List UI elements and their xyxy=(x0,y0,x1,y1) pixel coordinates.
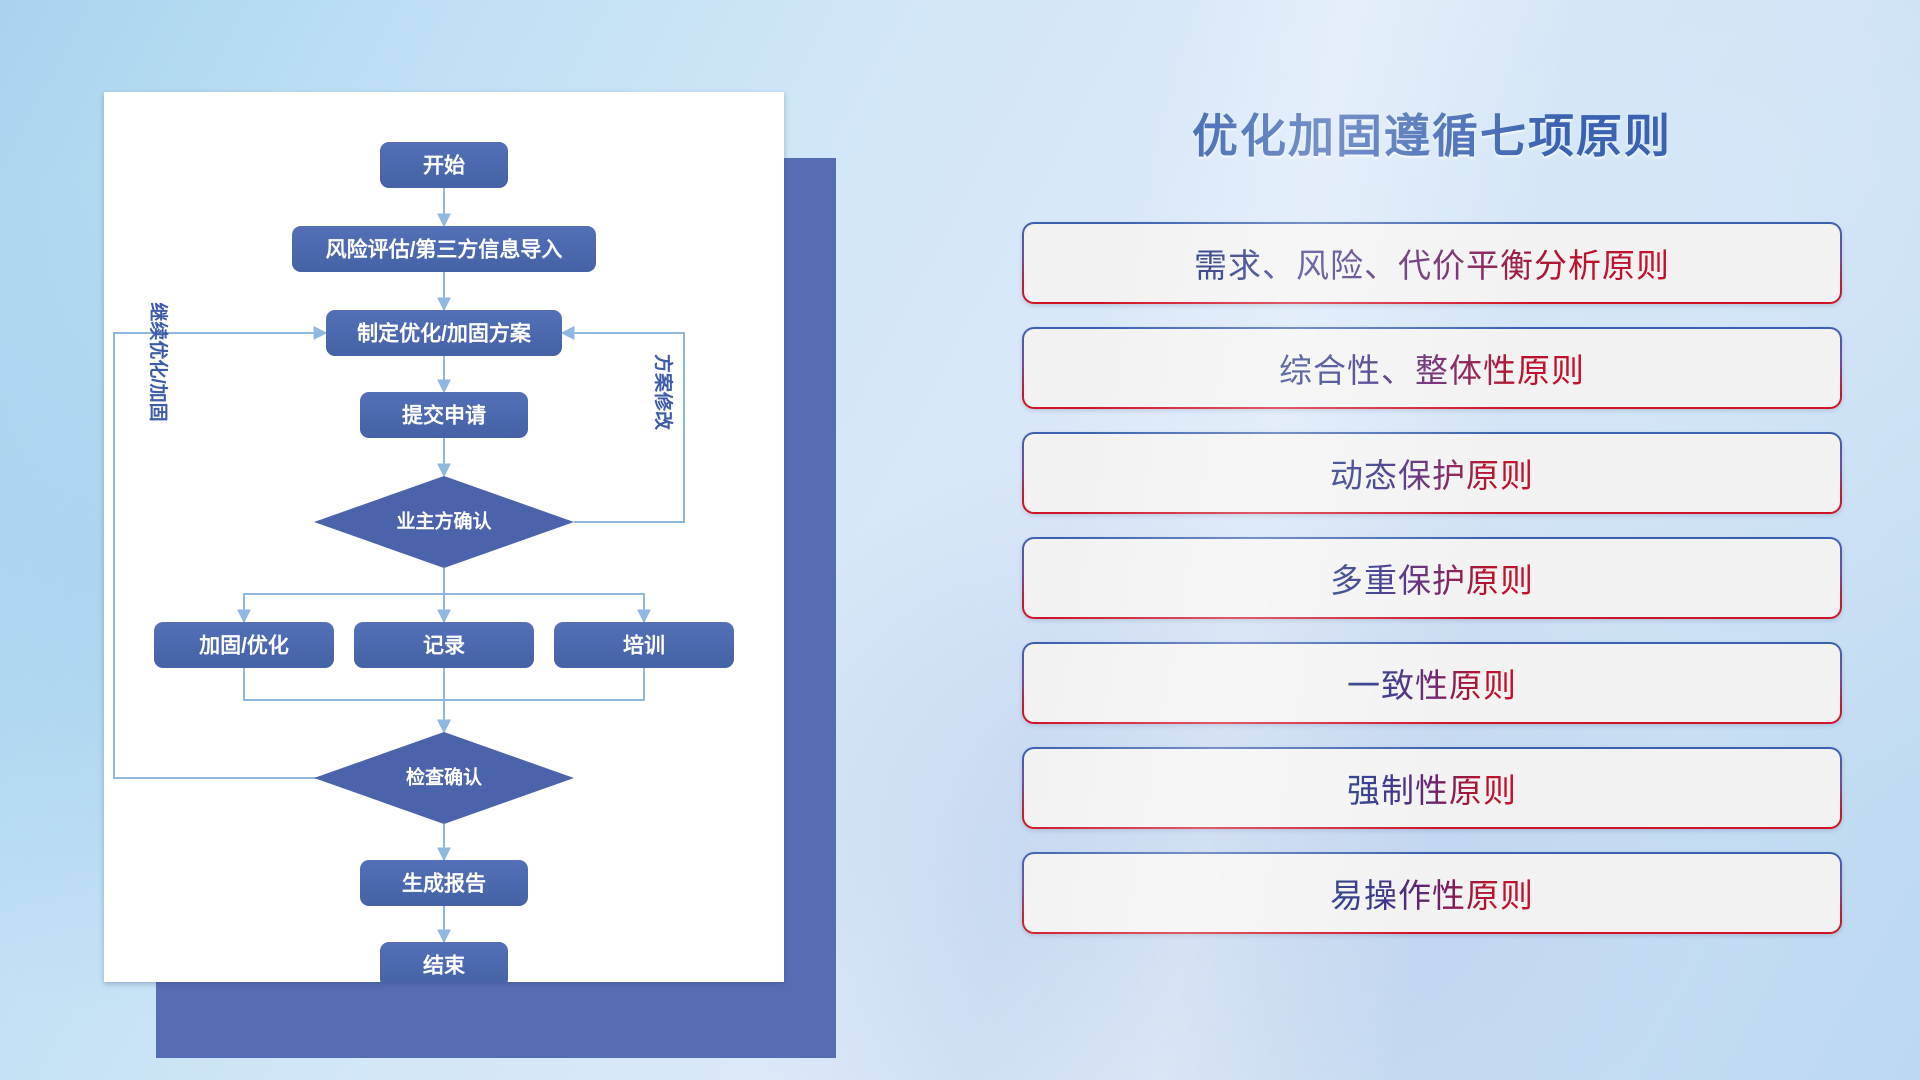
principle-item-1[interactable]: 需求、风险、代价平衡分析原则 xyxy=(1022,222,1842,304)
principle-item-6-label: 强制性原则 xyxy=(1347,764,1517,812)
principle-item-4-body: 多重保护原则 xyxy=(1024,539,1840,617)
flow-node-submit-label: 提交申请 xyxy=(402,404,486,428)
flow-node-start-label: 开始 xyxy=(423,154,465,178)
flow-node-training-label: 培训 xyxy=(623,634,665,658)
flow-node-record-label: 记录 xyxy=(423,635,465,658)
principle-item-6[interactable]: 强制性原则 xyxy=(1022,747,1842,829)
flowchart-panel: 开始 风险评估/第三方信息导入 制定优化/加固方案 提交申请 业主方确认 xyxy=(104,92,784,992)
flow-edge-label-left-loop: 继续优化/加固 xyxy=(147,302,170,421)
flow-node-reinforce[interactable]: 加固/优化 xyxy=(154,622,334,668)
principle-item-2-label: 综合性、整体性原则 xyxy=(1279,344,1585,392)
principle-item-7-label: 易操作性原则 xyxy=(1330,869,1534,917)
flow-node-report[interactable]: 生成报告 xyxy=(360,860,528,906)
slide-canvas: 开始 风险评估/第三方信息导入 制定优化/加固方案 提交申请 业主方确认 xyxy=(0,0,1920,1080)
flow-node-start[interactable]: 开始 xyxy=(380,142,508,188)
principle-item-5-label: 一致性原则 xyxy=(1347,659,1517,707)
flow-node-reinforce-label: 加固/优化 xyxy=(198,634,289,658)
flow-node-training[interactable]: 培训 xyxy=(554,622,734,668)
flow-node-owner-confirm[interactable]: 业主方确认 xyxy=(314,476,574,568)
flow-node-risk[interactable]: 风险评估/第三方信息导入 xyxy=(292,226,596,272)
flowchart-diagram: 开始 风险评估/第三方信息导入 制定优化/加固方案 提交申请 业主方确认 xyxy=(104,92,784,982)
flow-node-record[interactable]: 记录 xyxy=(354,622,534,668)
flow-node-risk-label: 风险评估/第三方信息导入 xyxy=(326,238,563,262)
principle-item-1-label: 需求、风险、代价平衡分析原则 xyxy=(1194,239,1670,287)
principle-item-3-body: 动态保护原则 xyxy=(1024,434,1840,512)
flow-edge-label-right-loop: 方案修改 xyxy=(652,354,675,431)
principle-item-4-label: 多重保护原则 xyxy=(1330,554,1534,602)
principle-item-5[interactable]: 一致性原则 xyxy=(1022,642,1842,724)
flow-node-plan[interactable]: 制定优化/加固方案 xyxy=(326,310,562,356)
flow-node-plan-label: 制定优化/加固方案 xyxy=(357,322,532,346)
principle-item-2-body: 综合性、整体性原则 xyxy=(1024,329,1840,407)
principle-item-1-body: 需求、风险、代价平衡分析原则 xyxy=(1024,224,1840,302)
principles-panel: 优化加固遵循七项原则 需求、风险、代价平衡分析原则 综合性、整体性原则 动态保护… xyxy=(1022,100,1842,957)
flow-node-owner-confirm-label: 业主方确认 xyxy=(396,510,491,533)
principle-item-2[interactable]: 综合性、整体性原则 xyxy=(1022,327,1842,409)
panel-title: 优化加固遵循七项原则 xyxy=(1022,100,1842,166)
flow-node-check-confirm[interactable]: 检查确认 xyxy=(314,732,574,824)
flow-node-end-label: 结束 xyxy=(423,954,466,978)
principle-item-3-label: 动态保护原则 xyxy=(1330,449,1534,497)
principle-item-4[interactable]: 多重保护原则 xyxy=(1022,537,1842,619)
principle-item-3[interactable]: 动态保护原则 xyxy=(1022,432,1842,514)
flow-node-submit[interactable]: 提交申请 xyxy=(360,392,528,438)
principle-item-7-body: 易操作性原则 xyxy=(1024,854,1840,932)
principle-item-5-body: 一致性原则 xyxy=(1024,644,1840,722)
flowchart-connectors xyxy=(114,188,684,942)
flow-node-report-label: 生成报告 xyxy=(402,872,486,896)
principle-item-6-body: 强制性原则 xyxy=(1024,749,1840,827)
flow-node-check-confirm-label: 检查确认 xyxy=(406,766,482,789)
flow-node-end[interactable]: 结束 xyxy=(380,942,508,982)
principle-item-7[interactable]: 易操作性原则 xyxy=(1022,852,1842,934)
